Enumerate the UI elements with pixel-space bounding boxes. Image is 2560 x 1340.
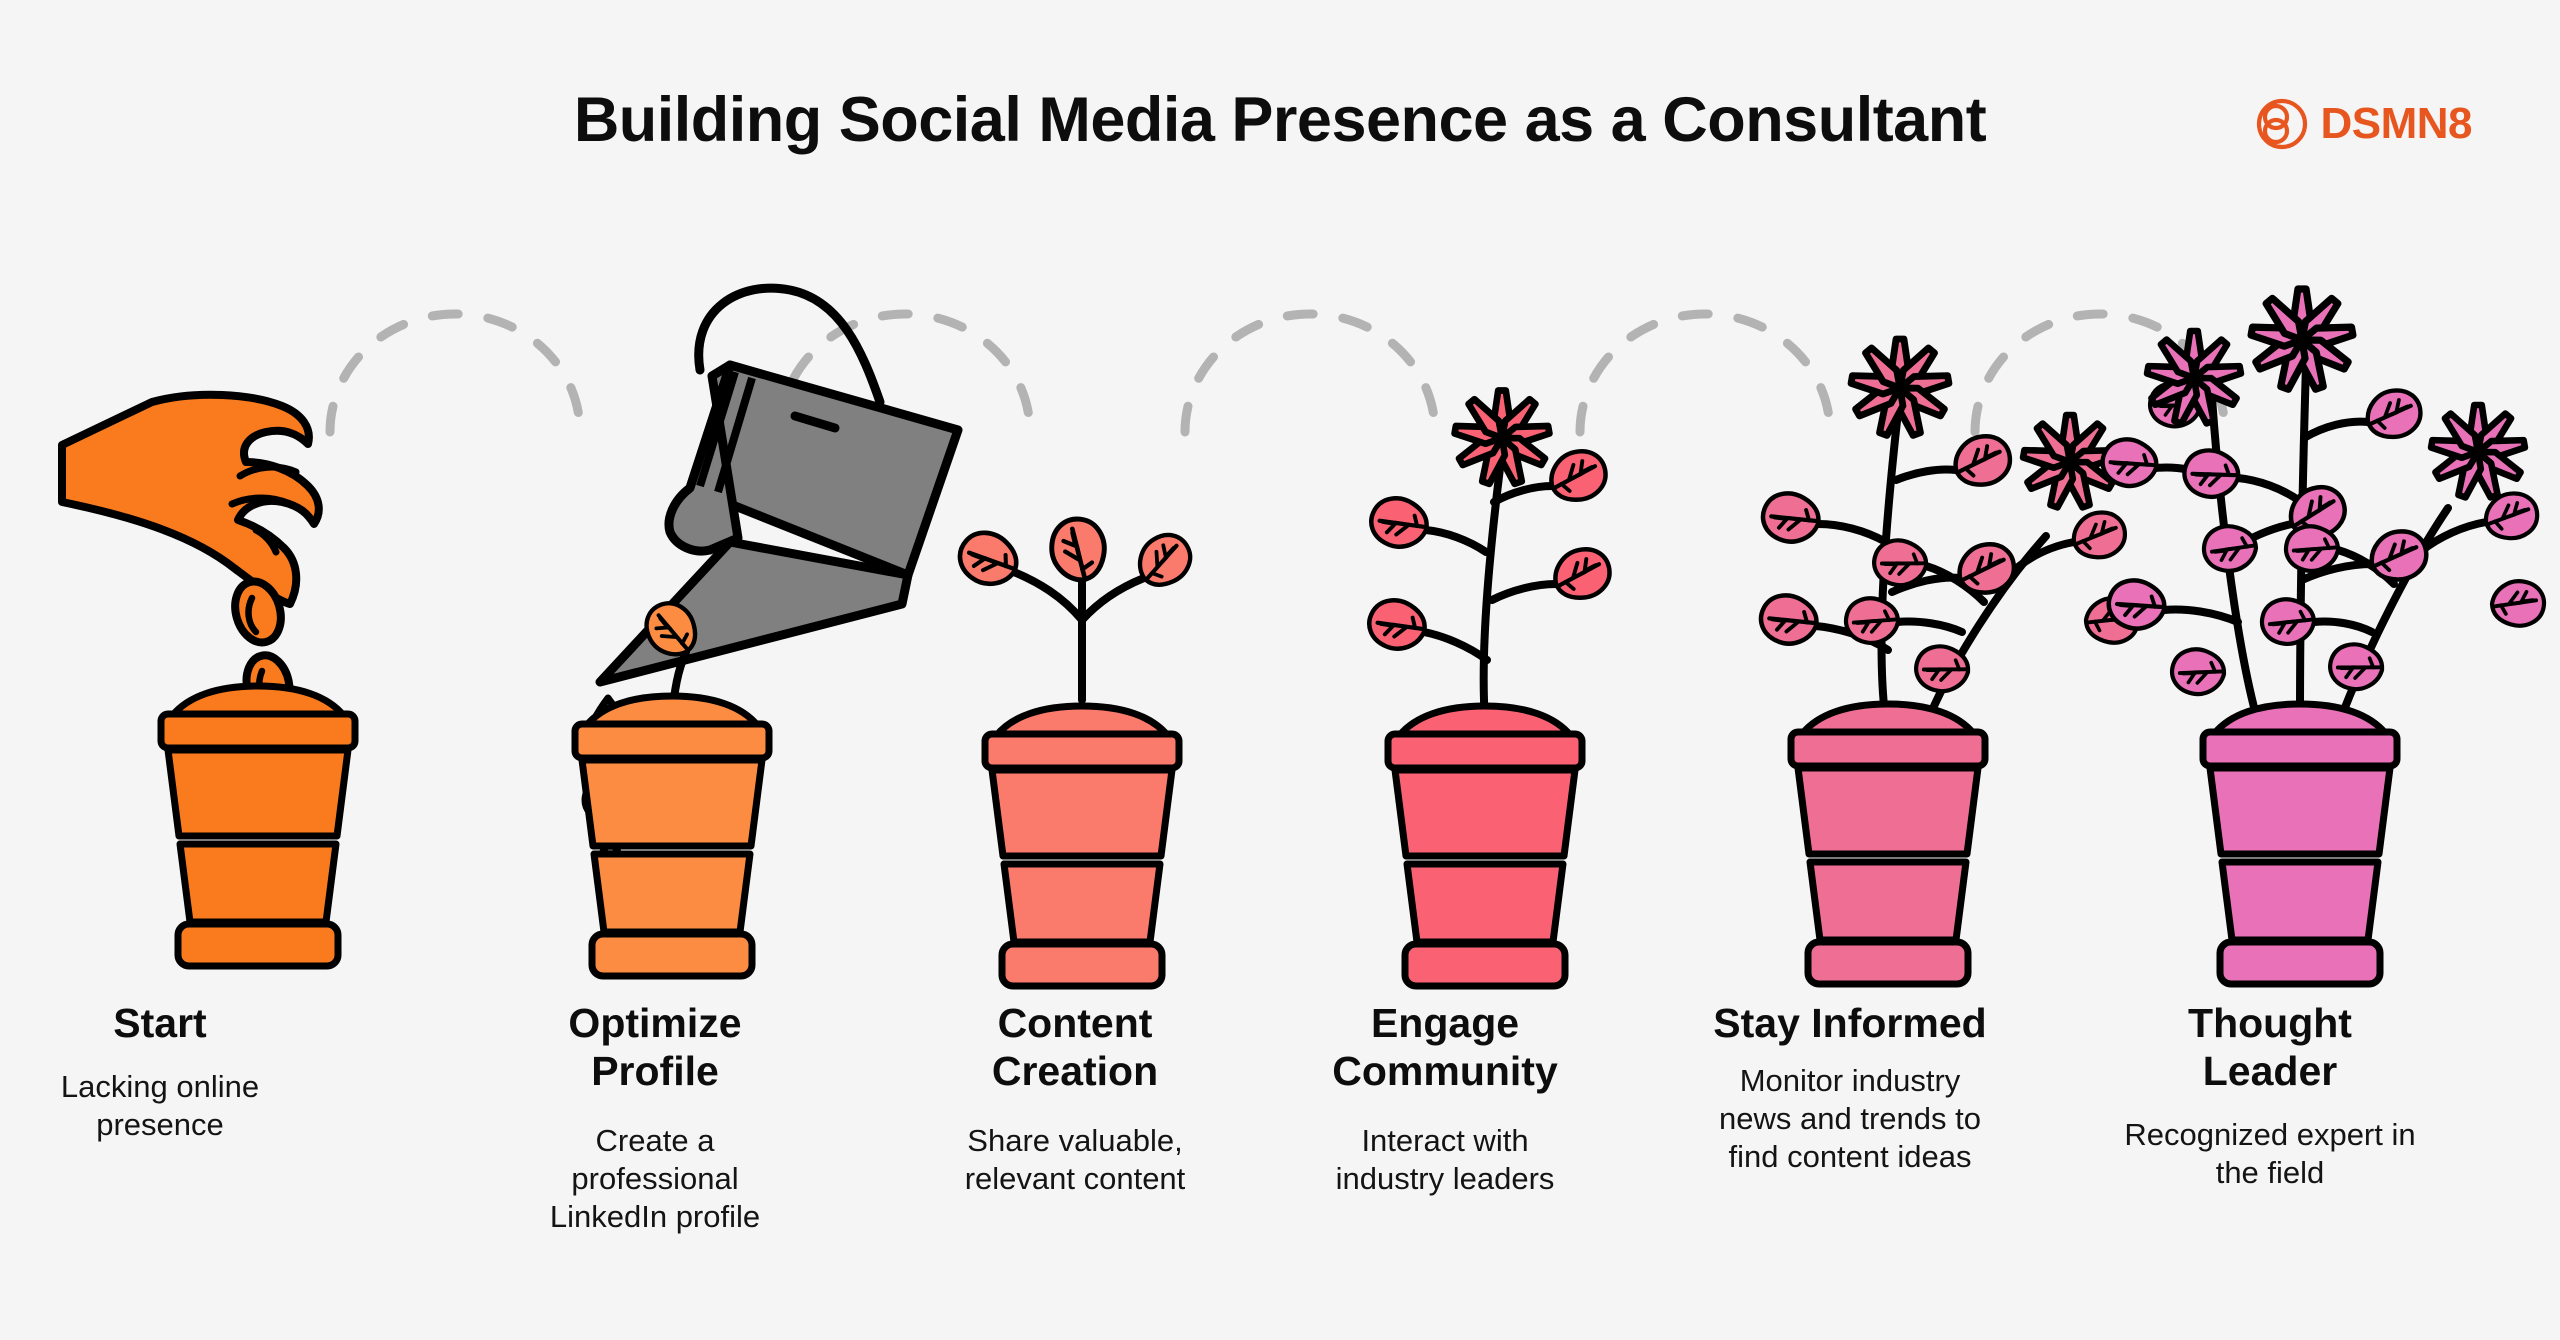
- plant-pot-3: [985, 706, 1179, 986]
- stage-description: Lacking online presence: [0, 1068, 320, 1144]
- header: Building Social Media Presence as a Cons…: [0, 0, 2560, 200]
- page-title: Building Social Media Presence as a Cons…: [0, 84, 2560, 156]
- dsmn8-circles-icon: [2256, 98, 2308, 150]
- stage-description: Recognized expert in the field: [2070, 1116, 2470, 1192]
- stage-title: Engage Community: [1260, 1000, 1630, 1096]
- plant-stems: [1014, 572, 1144, 700]
- hand-dropping-seed-icon: [62, 395, 319, 604]
- stage-title: Content Creation: [910, 1000, 1240, 1096]
- plant-leaves: [951, 518, 1200, 595]
- stage-title: Optimize Profile: [505, 1000, 805, 1096]
- plant-pot-6: [2203, 704, 2397, 984]
- stage-captions: Start Lacking online presence Optimize P…: [0, 1000, 2560, 1340]
- stage-caption-engage-community: Engage Community Interact with industry …: [1260, 1000, 1630, 1198]
- stage-title: Thought Leader: [2070, 1000, 2470, 1096]
- stage-5-stay-informed-illustration: [1755, 339, 2140, 984]
- stage-description: Monitor industry news and trends to find…: [1640, 1062, 2060, 1175]
- plant-stems: [1424, 468, 1556, 720]
- stage-caption-thought-leader: Thought Leader Recognized expert in the …: [2070, 1000, 2470, 1192]
- stage-caption-content-creation: Content Creation Share valuable, relevan…: [910, 1000, 1240, 1198]
- stage-caption-stay-informed: Stay Informed Monitor industry news and …: [1640, 1000, 2060, 1175]
- stage-title: Start: [0, 1000, 320, 1048]
- stage-1-start-illustration: [62, 395, 355, 966]
- stage-caption-start: Start Lacking online presence: [0, 1000, 320, 1144]
- dashed-arc-connector: [1580, 314, 1830, 432]
- stage-description: Interact with industry leaders: [1260, 1122, 1630, 1198]
- brand-logo: DSMN8: [2256, 98, 2472, 150]
- plant-pot-5: [1791, 704, 1985, 984]
- dashed-arc-connector: [330, 314, 580, 432]
- stage-4-engage-community-illustration: [1363, 391, 1616, 987]
- stage-6-thought-leader-illustration: [2097, 289, 2545, 984]
- infographic-canvas: Building Social Media Presence as a Cons…: [0, 0, 2560, 1340]
- flower-icon: [2430, 405, 2526, 499]
- stage-3-content-creation-illustration: [951, 518, 1200, 986]
- stage-2-optimize-profile-illustration: [575, 288, 958, 976]
- growth-scene: [0, 180, 2560, 1000]
- stage-description: Share valuable, relevant content: [910, 1122, 1240, 1198]
- stage-caption-optimize-profile: Optimize Profile Create a professional L…: [505, 1000, 805, 1235]
- logo-text: DSMN8: [2320, 102, 2472, 146]
- stage-title: Stay Informed: [1640, 1000, 2060, 1048]
- plant-pot-4: [1388, 706, 1582, 986]
- plant-pot-2: [575, 696, 769, 976]
- dashed-arc-connector: [1185, 314, 1435, 432]
- stage-description: Create a professional LinkedIn profile: [505, 1122, 805, 1235]
- plant-pot-1: [161, 686, 355, 966]
